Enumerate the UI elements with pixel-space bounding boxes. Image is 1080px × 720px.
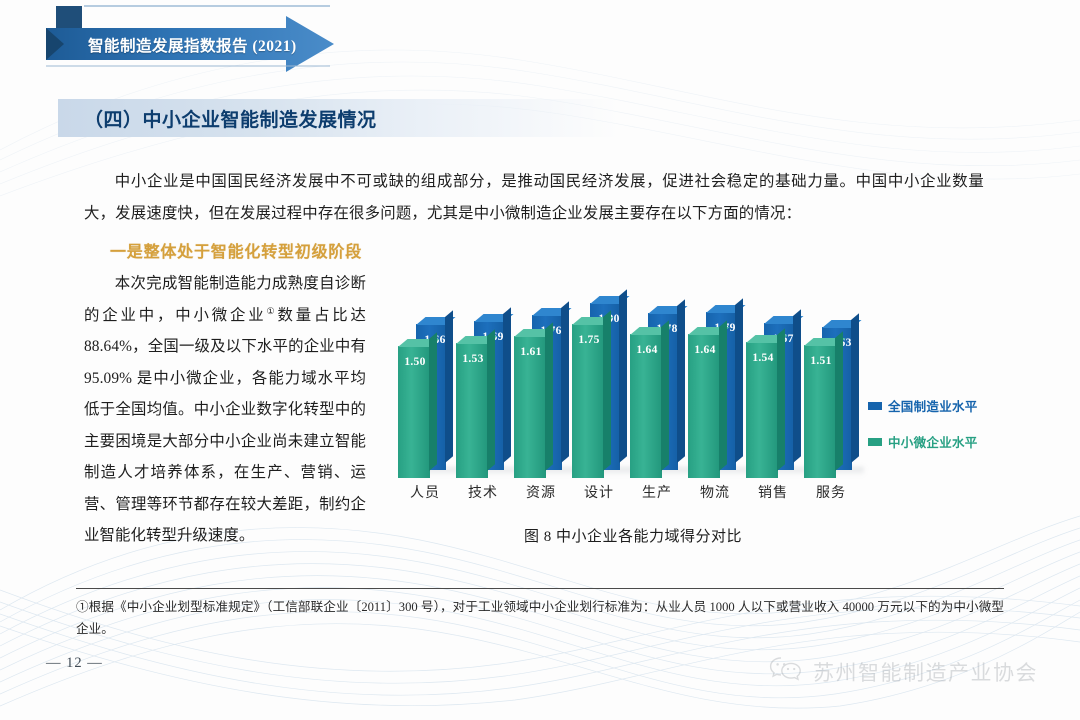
bar-value-label-sme: 1.64 <box>624 344 670 356</box>
x-axis-label: 人员 <box>398 482 452 502</box>
bar-group: 1.631.51 <box>804 278 858 478</box>
bar-value-label-sme: 1.50 <box>392 356 438 368</box>
bar-group: 1.761.61 <box>514 278 568 478</box>
bar-value-label-sme: 1.53 <box>450 353 496 365</box>
header-banner: 智能制造发展指数报告 (2021) <box>0 0 400 80</box>
legend-item-sme: 中小微企业水平 <box>868 432 1008 451</box>
section-heading-band: （四）中小企业智能制造发展情况 <box>58 99 618 137</box>
left-column-body: 本次完成智能制造能力成熟度自诊断的企业中，中小微企业①数量占比达 88.64%，… <box>84 268 366 552</box>
bar-group: 1.661.50 <box>398 278 452 478</box>
x-axis-label: 销售 <box>746 482 800 502</box>
x-axis-label: 设计 <box>572 482 626 502</box>
bar-group: 1.791.64 <box>688 278 742 478</box>
wechat-icon <box>769 655 803 688</box>
footnote-text: ①根据《中小企业划型标准规定》（工信部联企业〔2011〕300 号），对于工业领… <box>76 596 1004 640</box>
legend-label-sme: 中小微企业水平 <box>888 432 978 451</box>
bar-value-label-sme: 1.61 <box>508 346 554 358</box>
footnote-marker: ① <box>267 305 278 315</box>
legend-label-national: 全国制造业水平 <box>888 396 978 415</box>
bar-group: 1.781.64 <box>630 278 684 478</box>
bar-group: 1.901.75 <box>572 278 626 478</box>
page-number: — 12 — <box>46 655 103 672</box>
intro-paragraph: 中小企业是中国国民经济发展中不可或缺的组成部分，是推动国民经济发展，促进社会稳定… <box>84 166 984 230</box>
watermark: 苏州智能制造产业协会 <box>769 655 1038 688</box>
bar-group: 1.671.54 <box>746 278 800 478</box>
x-axis-label: 生产 <box>630 482 684 502</box>
chart-x-axis-labels: 人员技术资源设计生产物流销售服务 <box>398 482 868 506</box>
report-title: 智能制造发展指数报告 (2021) <box>88 34 297 56</box>
document-page: 智能制造发展指数报告 (2021) （四）中小企业智能制造发展情况 中小企业是中… <box>0 0 1080 720</box>
watermark-text: 苏州智能制造产业协会 <box>813 657 1038 687</box>
bar-value-label-sme: 1.51 <box>798 355 844 367</box>
bar-value-label-sme: 1.64 <box>682 344 728 356</box>
bar-value-label-sme: 1.75 <box>566 334 612 346</box>
chart-plot-area: 1.661.501.691.531.761.611.901.751.781.64… <box>398 278 868 478</box>
chart-legend: 全国制造业水平 中小微企业水平 <box>868 396 1008 468</box>
legend-item-national: 全国制造业水平 <box>868 396 1008 415</box>
footnote-divider <box>76 588 1004 589</box>
bar-value-label-sme: 1.54 <box>740 352 786 364</box>
body-part-2: 数量占比达 88.64%，全国一级及以下水平的企业中有 95.09% 是中小微企… <box>84 307 366 545</box>
legend-swatch-national <box>868 402 882 410</box>
bar-group: 1.691.53 <box>456 278 510 478</box>
bar-sme <box>572 324 604 478</box>
section-heading-text: （四）中小企业智能制造发展情况 <box>58 105 377 132</box>
x-axis-label: 物流 <box>688 482 742 502</box>
sub-heading: 一是整体处于智能化转型初级阶段 <box>110 238 362 262</box>
bar-chart: 1.661.501.691.531.761.611.901.751.781.64… <box>398 278 1008 508</box>
x-axis-label: 技术 <box>456 482 510 502</box>
figure-caption: 图 8 中小企业各能力域得分对比 <box>398 525 868 546</box>
x-axis-label: 服务 <box>804 482 858 502</box>
legend-swatch-sme <box>868 438 882 446</box>
x-axis-label: 资源 <box>514 482 568 502</box>
